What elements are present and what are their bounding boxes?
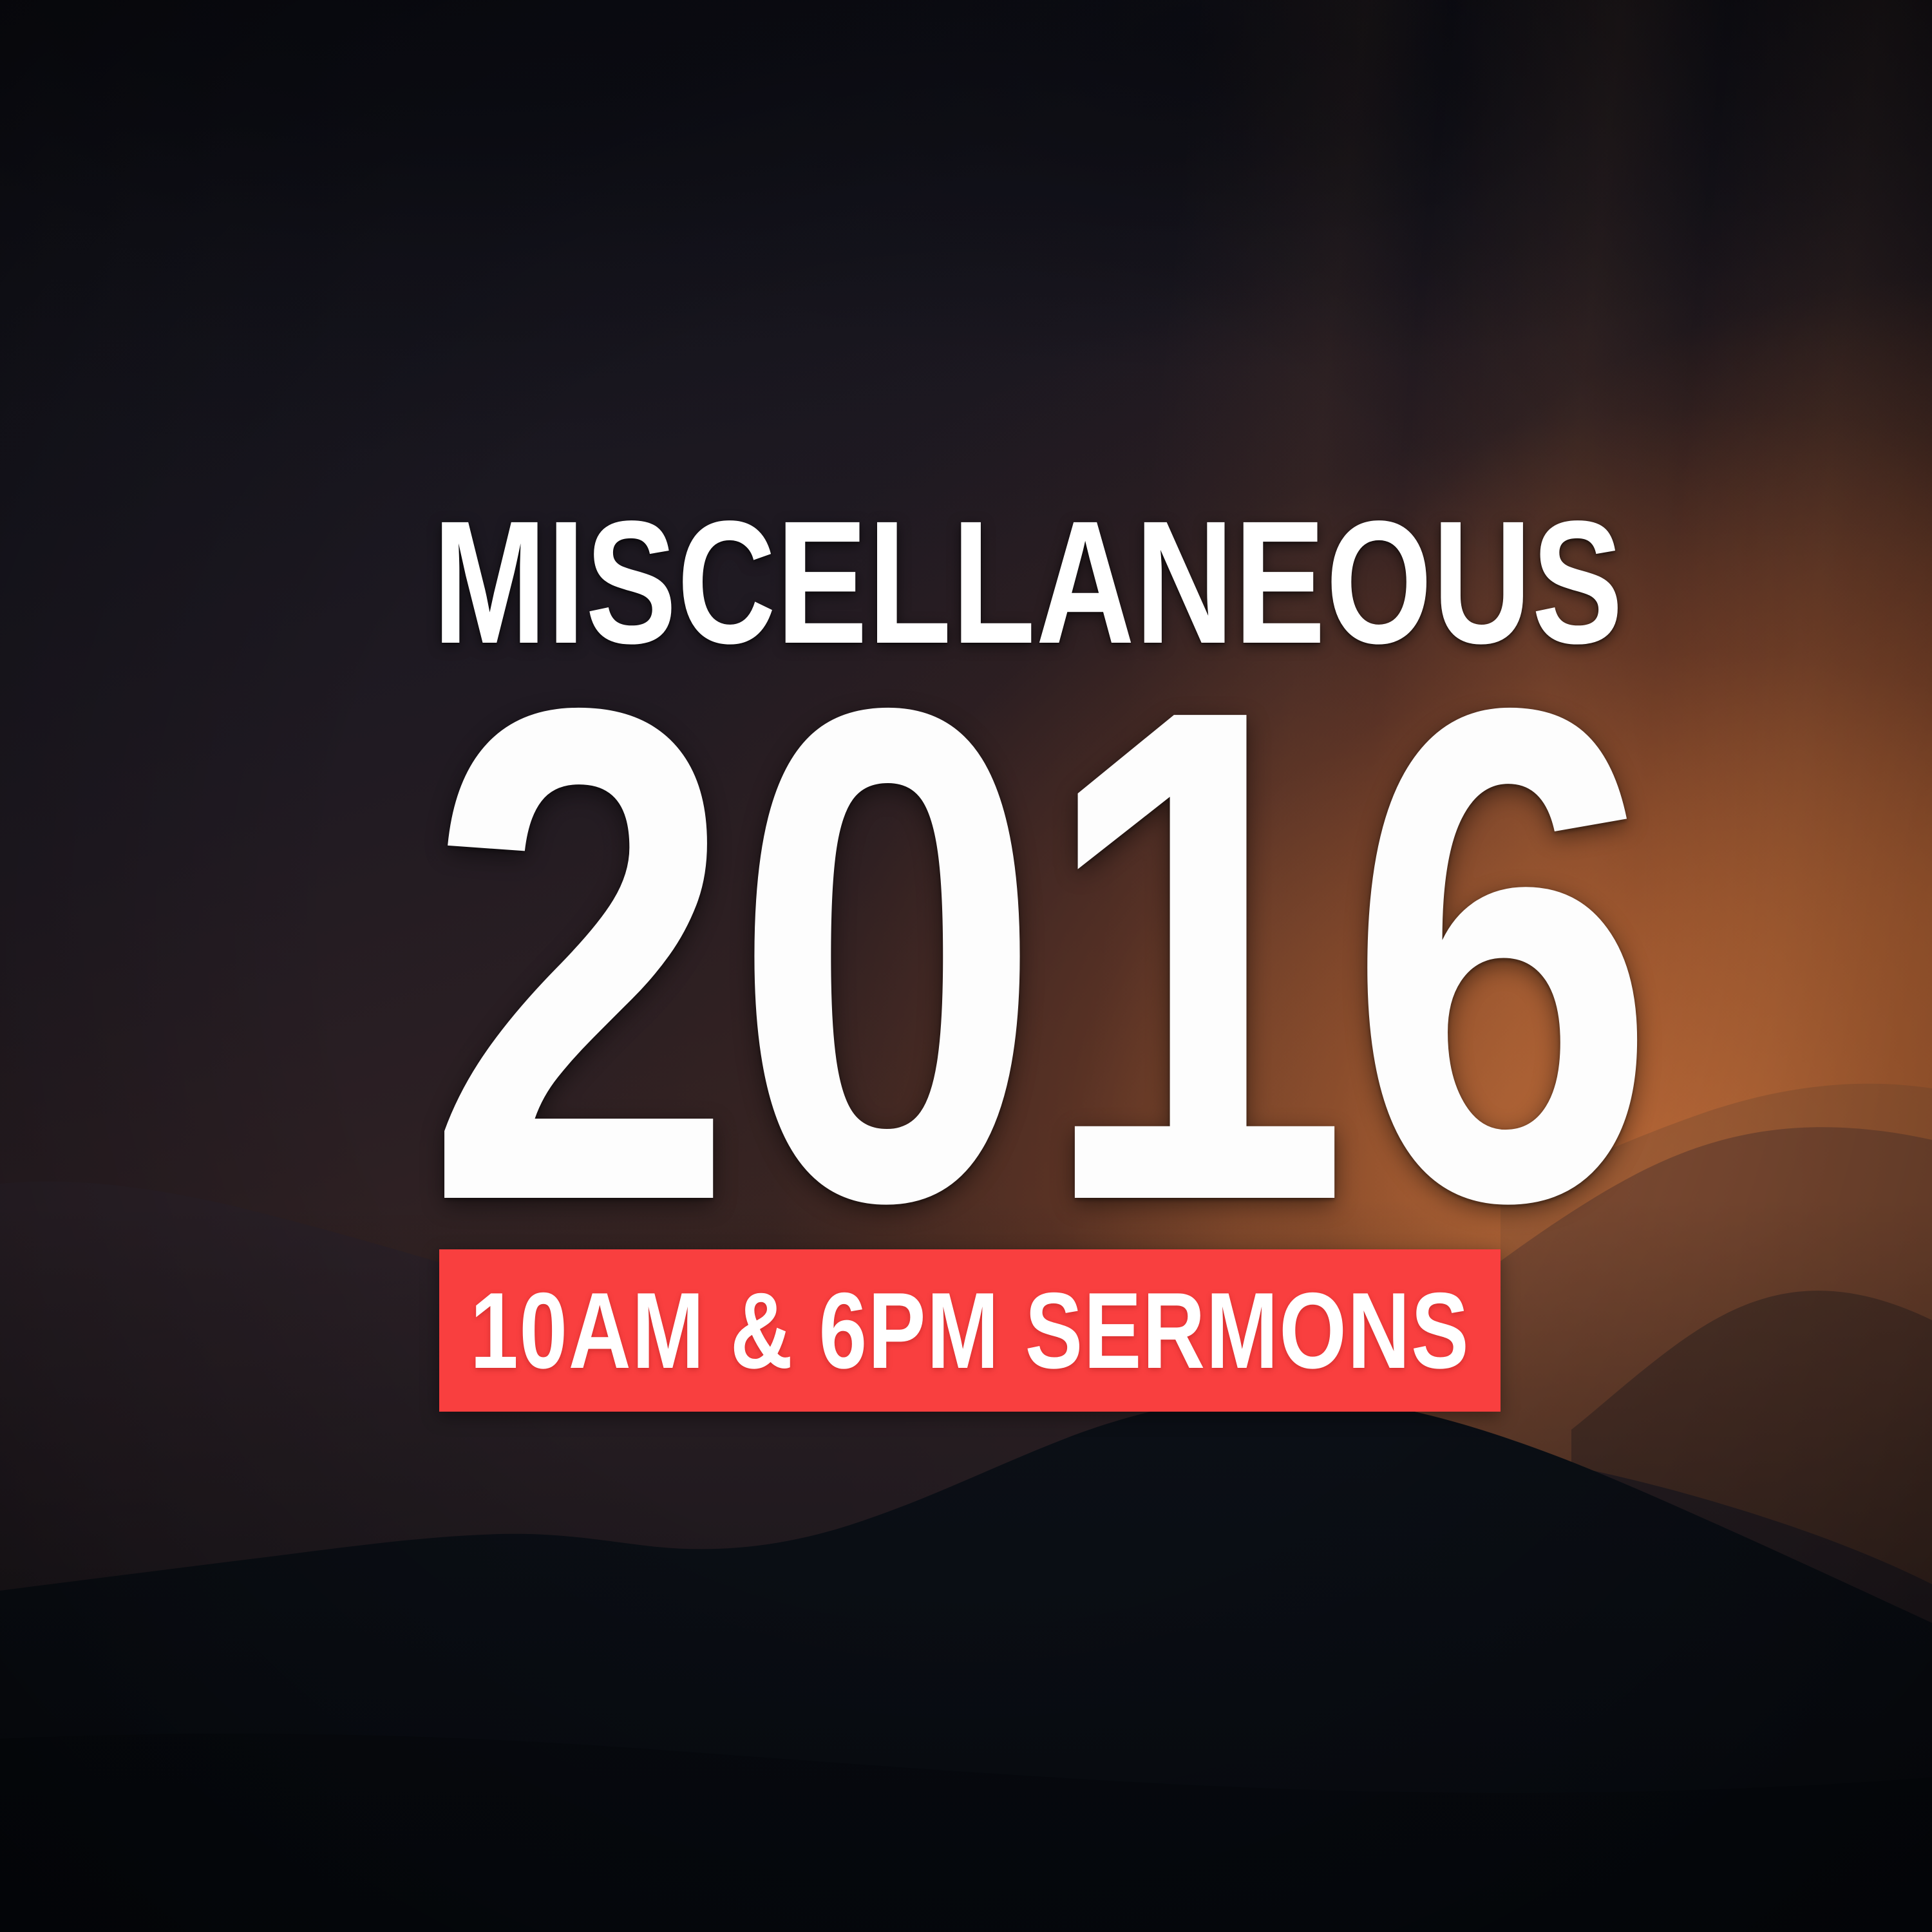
- cover-content: MISCELLANEOUS 2016 10AM & 6PM SERMONS: [0, 0, 1932, 1932]
- service-times-label: 10AM & 6PM SERMONS: [470, 1276, 1470, 1385]
- sermon-cover-graphic: MISCELLANEOUS 2016 10AM & 6PM SERMONS: [0, 0, 1932, 1932]
- series-year: 2016: [425, 652, 1296, 1257]
- service-times-banner: 10AM & 6PM SERMONS: [439, 1249, 1501, 1412]
